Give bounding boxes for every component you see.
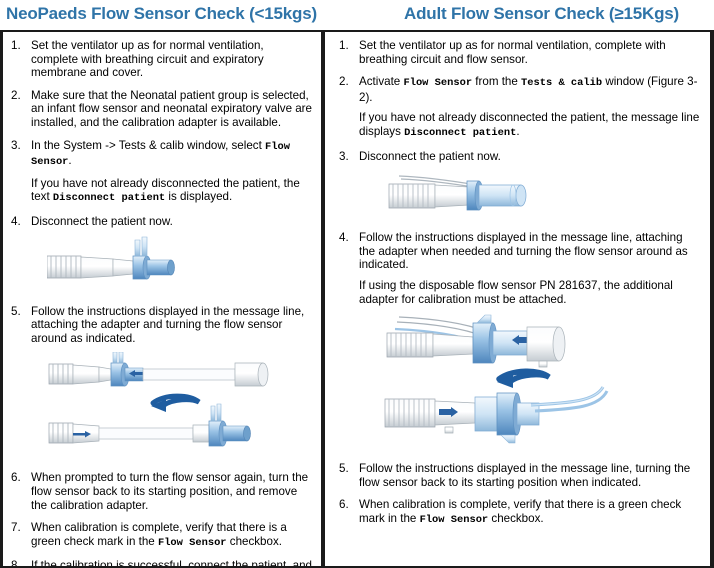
text-run: is displayed. bbox=[165, 190, 232, 203]
column-headers: NeoPaeds Flow Sensor Check (<15kgs) Adul… bbox=[0, 0, 714, 30]
illustration-flow-sensor-turn-adult bbox=[381, 313, 700, 445]
step-paragraph: Make sure that the Neonatal patient grou… bbox=[31, 89, 313, 130]
step-number: 3. bbox=[9, 139, 31, 153]
step-item: 2.Activate Flow Sensor from the Tests & … bbox=[337, 75, 700, 140]
step-body: Set the ventilator up as for normal vent… bbox=[359, 39, 700, 66]
text-run: If the calibration is successful, connec… bbox=[31, 559, 312, 566]
text-run: In the System -> Tests & calib window, s… bbox=[31, 139, 265, 152]
figure-flow-sensor-disconnected-neo bbox=[47, 236, 237, 288]
step-body: In the System -> Tests & calib window, s… bbox=[31, 139, 313, 206]
step-body: Follow the instructions displayed in the… bbox=[359, 231, 700, 453]
step-number: 2. bbox=[9, 89, 31, 103]
step-number: 4. bbox=[9, 215, 31, 229]
text-run: . bbox=[68, 154, 71, 167]
illustration-flow-sensor-disconnected-neo bbox=[47, 236, 313, 288]
step-body: If the calibration is successful, connec… bbox=[31, 559, 313, 566]
step-item: 4.Disconnect the patient now. bbox=[9, 215, 313, 296]
step-number: 4. bbox=[337, 231, 359, 245]
step-paragraph: Follow the instructions displayed in the… bbox=[359, 231, 700, 272]
step-number: 5. bbox=[9, 305, 31, 319]
step-paragraph: If using the disposable flow sensor PN 2… bbox=[359, 279, 700, 306]
step-paragraph: Activate Flow Sensor from the Tests & ca… bbox=[359, 75, 700, 104]
step-item: 8.If the calibration is successful, conn… bbox=[9, 559, 313, 566]
step-paragraph: Set the ventilator up as for normal vent… bbox=[359, 39, 700, 66]
ui-term: Disconnect patient bbox=[53, 192, 165, 204]
right-column-title: Adult Flow Sensor Check (≥15Kgs) bbox=[363, 0, 714, 30]
step-item: 1.Set the ventilator up as for normal ve… bbox=[9, 39, 313, 80]
step-item: 3.Disconnect the patient now. bbox=[337, 150, 700, 223]
step-body: Disconnect the patient now. bbox=[359, 150, 700, 223]
step-paragraph: When prompted to turn the flow sensor ag… bbox=[31, 471, 313, 512]
comparison-table: 1.Set the ventilator up as for normal ve… bbox=[0, 30, 714, 568]
text-run: checkbox. bbox=[488, 512, 543, 525]
step-body: Set the ventilator up as for normal vent… bbox=[31, 39, 313, 80]
text-run: Set the ventilator up as for normal vent… bbox=[31, 39, 264, 79]
step-paragraph: Follow the instructions displayed in the… bbox=[359, 462, 700, 489]
step-item: 6.When calibration is complete, verify t… bbox=[337, 498, 700, 527]
step-paragraph: If you have not already disconnected the… bbox=[31, 177, 313, 206]
step-number: 2. bbox=[337, 75, 359, 89]
step-paragraph: If you have not already disconnected the… bbox=[359, 111, 700, 140]
text-run: Disconnect the patient now. bbox=[31, 215, 173, 228]
ui-term: Flow Sensor bbox=[158, 537, 227, 549]
text-run: Set the ventilator up as for normal vent… bbox=[359, 39, 666, 66]
step-body: When prompted to turn the flow sensor ag… bbox=[31, 471, 313, 512]
neopaeds-column: 1.Set the ventilator up as for normal ve… bbox=[0, 32, 325, 566]
text-run: from the bbox=[472, 75, 521, 88]
ui-term: Disconnect patient bbox=[404, 127, 516, 139]
text-run: When prompted to turn the flow sensor ag… bbox=[31, 471, 308, 511]
rotate-arrow-icon bbox=[497, 371, 549, 388]
text-run: Follow the instructions displayed in the… bbox=[359, 231, 688, 271]
step-item: 7.When calibration is complete, verify t… bbox=[9, 521, 313, 550]
text-run: Follow the instructions displayed in the… bbox=[359, 462, 690, 489]
adult-column: 1.Set the ventilator up as for normal ve… bbox=[325, 32, 714, 566]
step-number: 7. bbox=[9, 521, 31, 535]
adult-step-list: 1.Set the ventilator up as for normal ve… bbox=[337, 39, 700, 528]
step-number: 5. bbox=[337, 462, 359, 476]
step-paragraph: When calibration is complete, verify tha… bbox=[31, 521, 313, 550]
text-run: Activate bbox=[359, 75, 403, 88]
step-body: Activate Flow Sensor from the Tests & ca… bbox=[359, 75, 700, 140]
text-run: Disconnect the patient now. bbox=[359, 150, 501, 163]
illustration-flow-sensor-disconnected-adult bbox=[381, 170, 700, 214]
step-body: Disconnect the patient now. bbox=[31, 215, 313, 296]
neopaeds-step-list: 1.Set the ventilator up as for normal ve… bbox=[9, 39, 313, 566]
figure-flow-sensor-disconnected-adult bbox=[381, 170, 576, 214]
step-item: 3.In the System -> Tests & calib window,… bbox=[9, 139, 313, 206]
step-number: 8. bbox=[9, 559, 31, 566]
step-number: 6. bbox=[9, 471, 31, 485]
figure-flow-sensor-turn-adult bbox=[381, 313, 666, 445]
ui-term: Flow Sensor bbox=[403, 77, 472, 89]
text-run: Make sure that the Neonatal patient grou… bbox=[31, 89, 312, 129]
text-run: . bbox=[516, 125, 519, 138]
step-item: 5.Follow the instructions displayed in t… bbox=[9, 305, 313, 463]
ui-term: Tests & calib bbox=[521, 77, 602, 89]
step-paragraph: Disconnect the patient now. bbox=[359, 150, 700, 164]
step-paragraph: Disconnect the patient now. bbox=[31, 215, 313, 229]
text-run: If using the disposable flow sensor PN 2… bbox=[359, 279, 673, 306]
step-number: 6. bbox=[337, 498, 359, 512]
flow-sensor-check-page: NeoPaeds Flow Sensor Check (<15kgs) Adul… bbox=[0, 0, 714, 568]
step-paragraph: If the calibration is successful, connec… bbox=[31, 559, 313, 566]
figure-flow-sensor-turn-neo bbox=[47, 352, 297, 454]
step-item: 6.When prompted to turn the flow sensor … bbox=[9, 471, 313, 512]
left-column-title: NeoPaeds Flow Sensor Check (<15kgs) bbox=[0, 0, 363, 30]
step-body: Follow the instructions displayed in the… bbox=[31, 305, 313, 463]
step-paragraph: When calibration is complete, verify tha… bbox=[359, 498, 700, 527]
step-body: Make sure that the Neonatal patient grou… bbox=[31, 89, 313, 130]
step-body: Follow the instructions displayed in the… bbox=[359, 462, 700, 489]
text-run: checkbox. bbox=[227, 535, 282, 548]
step-body: When calibration is complete, verify tha… bbox=[31, 521, 313, 550]
step-item: 2.Make sure that the Neonatal patient gr… bbox=[9, 89, 313, 130]
step-number: 1. bbox=[337, 39, 359, 53]
step-body: When calibration is complete, verify tha… bbox=[359, 498, 700, 527]
step-number: 1. bbox=[9, 39, 31, 53]
step-paragraph: Follow the instructions displayed in the… bbox=[31, 305, 313, 346]
text-run: Follow the instructions displayed in the… bbox=[31, 305, 304, 345]
step-item: 4.Follow the instructions displayed in t… bbox=[337, 231, 700, 453]
step-number: 3. bbox=[337, 150, 359, 164]
step-item: 1.Set the ventilator up as for normal ve… bbox=[337, 39, 700, 66]
rotate-arrow-icon bbox=[151, 396, 199, 412]
step-paragraph: In the System -> Tests & calib window, s… bbox=[31, 139, 313, 170]
illustration-flow-sensor-turn-neo bbox=[47, 352, 313, 454]
step-paragraph: Set the ventilator up as for normal vent… bbox=[31, 39, 313, 80]
step-item: 5.Follow the instructions displayed in t… bbox=[337, 462, 700, 489]
ui-term: Flow Sensor bbox=[420, 514, 489, 526]
